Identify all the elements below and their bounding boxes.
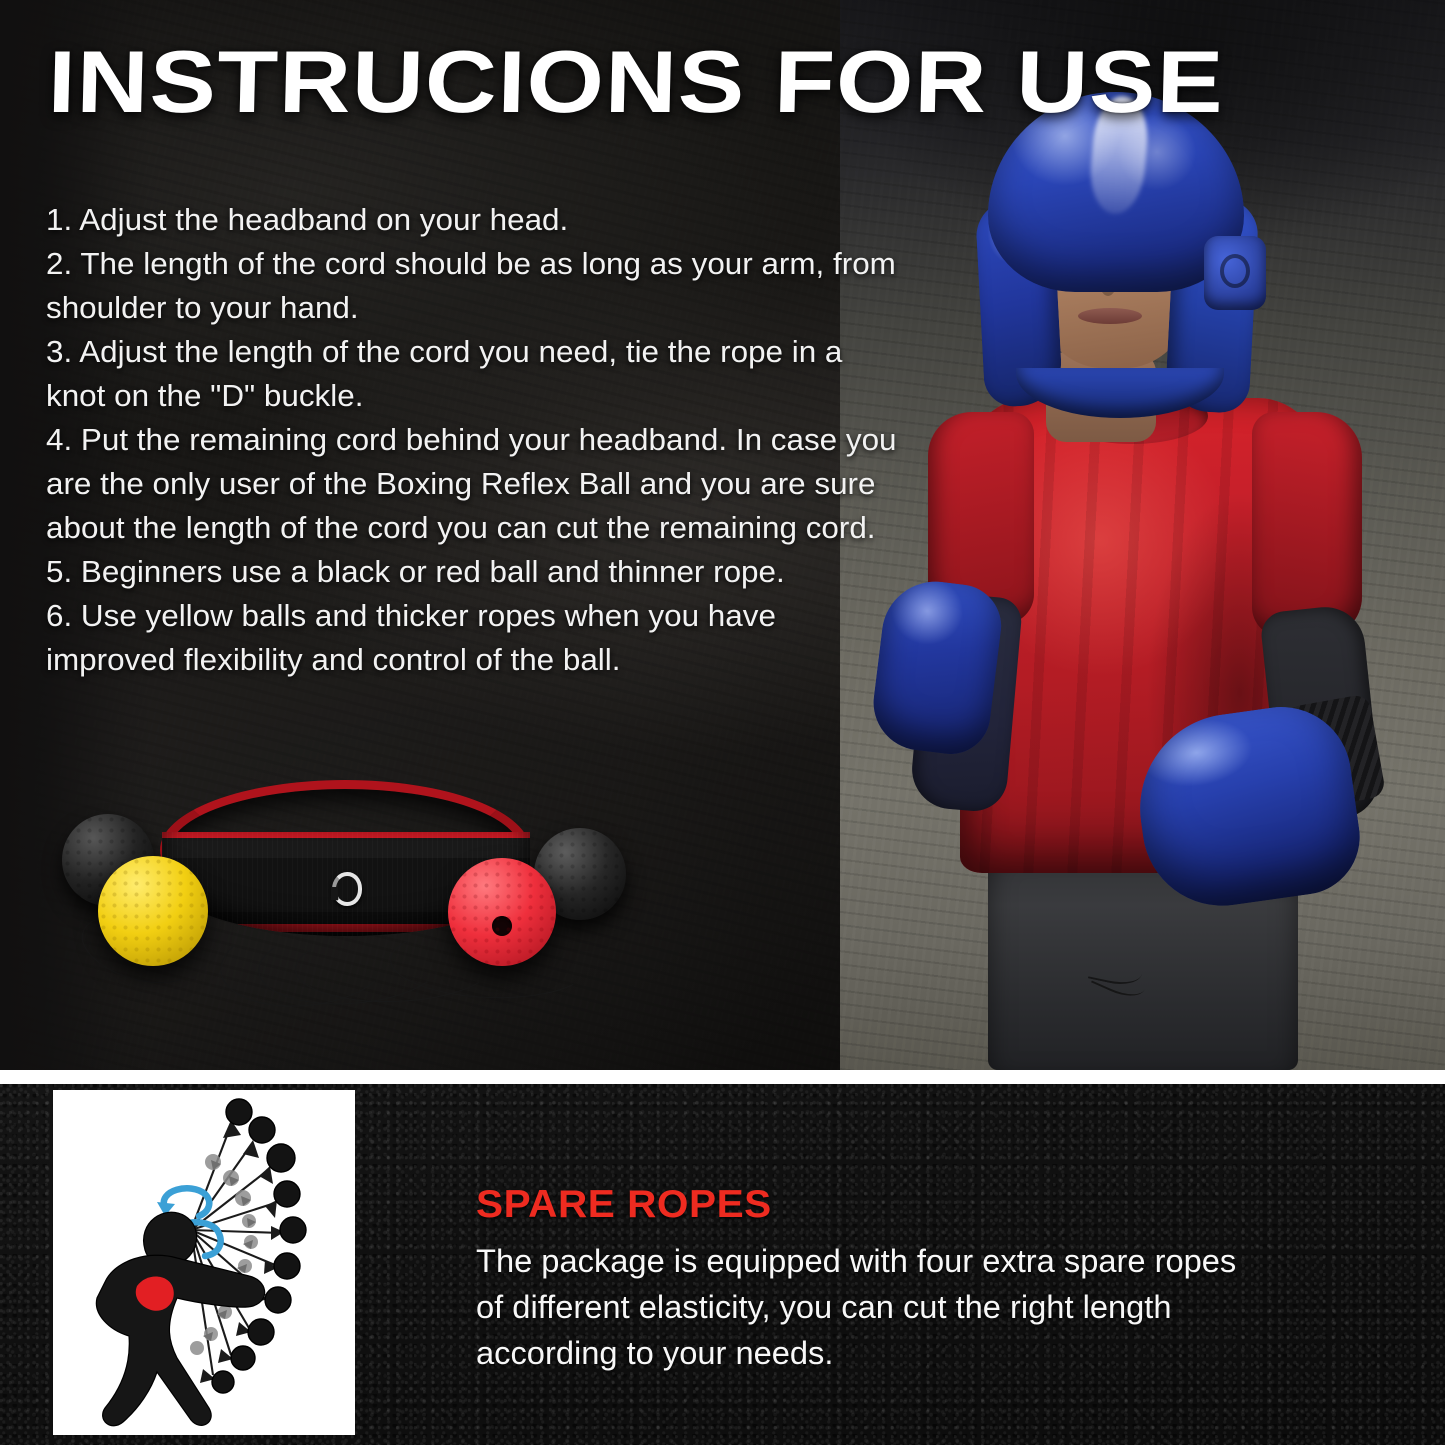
page-title: INSTRUCIONS FOR USE <box>47 34 1445 130</box>
instruction-item-5: 5. Beginners use a black or red ball and… <box>46 550 901 594</box>
d-buckle-icon <box>332 872 362 906</box>
spare-ropes-heading: SPARE ROPES <box>476 1183 772 1227</box>
instruction-item-3: 3. Adjust the length of the cord you nee… <box>46 330 901 418</box>
spare-ropes-description: The package is equipped with four extra … <box>476 1238 1292 1376</box>
instructions-list: 1. Adjust the headband on your head. 2. … <box>46 198 901 682</box>
instruction-item-2: 2. The length of the cord should be as l… <box>46 242 901 330</box>
training-diagram <box>53 1090 355 1435</box>
product-photo <box>40 770 700 1060</box>
instruction-item-1: 1. Adjust the headband on your head. <box>46 198 901 242</box>
reflex-ball-yellow <box>98 856 208 966</box>
spare-ropes-line: The package is equipped with four extra … <box>476 1238 1292 1284</box>
spare-ropes-line: according to your needs. <box>476 1330 1292 1376</box>
mouth <box>1078 308 1142 324</box>
infographic-page: INSTRUCIONS FOR USE 1. Adjust the headba… <box>0 0 1445 1445</box>
boxer-motion-diagram-icon <box>53 1090 355 1435</box>
reflex-ball-red <box>448 858 556 966</box>
spare-ropes-line: of different elasticity, you can cut the… <box>476 1284 1292 1330</box>
sleeve-right <box>1252 412 1362 637</box>
ball-cord-hole <box>492 916 512 936</box>
instruction-item-6: 6. Use yellow balls and thicker ropes wh… <box>46 594 901 682</box>
panel-divider <box>0 1070 1445 1084</box>
instructions-panel: INSTRUCIONS FOR USE 1. Adjust the headba… <box>0 0 1445 1070</box>
boy-figure <box>840 0 1445 1070</box>
instruction-item-4: 4. Put the remaining cord behind your he… <box>46 418 901 550</box>
headgear-ear-guard <box>1204 236 1266 310</box>
